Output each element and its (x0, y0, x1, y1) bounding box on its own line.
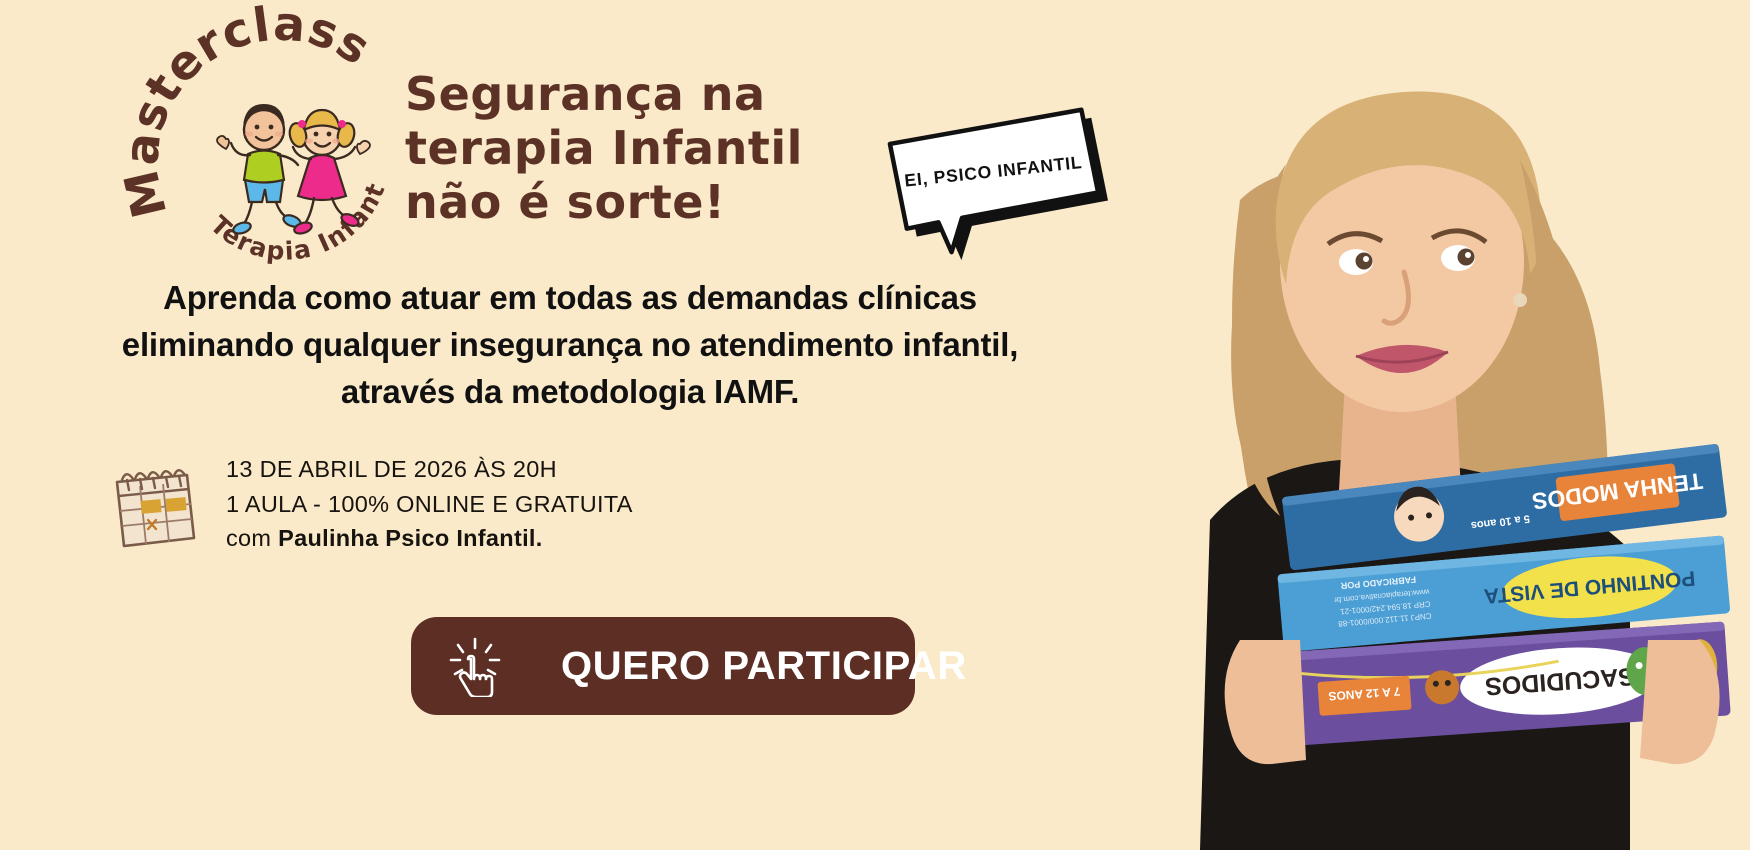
headline-line-1: Segurança na (405, 68, 925, 122)
subheadline-line-3: através da metodologia IAMF. (60, 369, 1080, 416)
detail-host-prefix: com (226, 525, 278, 551)
subheadline: Aprenda como atuar em todas as demandas … (60, 275, 1080, 416)
masterclass-logo: Masterclass Terapia Infantil (170, 38, 405, 263)
woman-holding-therapy-game-boxes: TENHA MODOS 5 a 10 anos PONTINHO DE VIST… (1090, 0, 1750, 850)
detail-host-name: Paulinha Psico Infantil. (278, 525, 542, 551)
detail-date: 13 DE ABRIL DE 2026 ÀS 20H (226, 452, 633, 487)
promo-banner: Masterclass Terapia Infantil (0, 0, 1750, 850)
headline-line-2: terapia Infantil (405, 122, 925, 176)
subheadline-line-1: Aprenda como atuar em todas as demandas … (60, 275, 1080, 322)
detail-host: com Paulinha Psico Infantil. (226, 521, 633, 556)
click-hand-icon (449, 635, 505, 697)
event-details: 13 DE ABRIL DE 2026 ÀS 20H 1 AULA - 100%… (108, 452, 633, 556)
cta-label: QUERO PARTICIPAR (561, 644, 967, 689)
detail-text-block: 13 DE ABRIL DE 2026 ÀS 20H 1 AULA - 100%… (226, 452, 633, 556)
headline: Segurança na terapia Infantil não é sort… (405, 68, 925, 229)
detail-class-info: 1 AULA - 100% ONLINE E GRATUITA (226, 487, 633, 522)
quero-participar-button[interactable]: QUERO PARTICIPAR (411, 617, 915, 715)
calendar-icon (108, 458, 204, 550)
subheadline-line-2: eliminando qualquer insegurança no atend… (60, 322, 1080, 369)
speech-bubble: EI, PSICO INFANTIL (872, 108, 1102, 258)
headline-line-3: não é sorte! (405, 176, 925, 230)
